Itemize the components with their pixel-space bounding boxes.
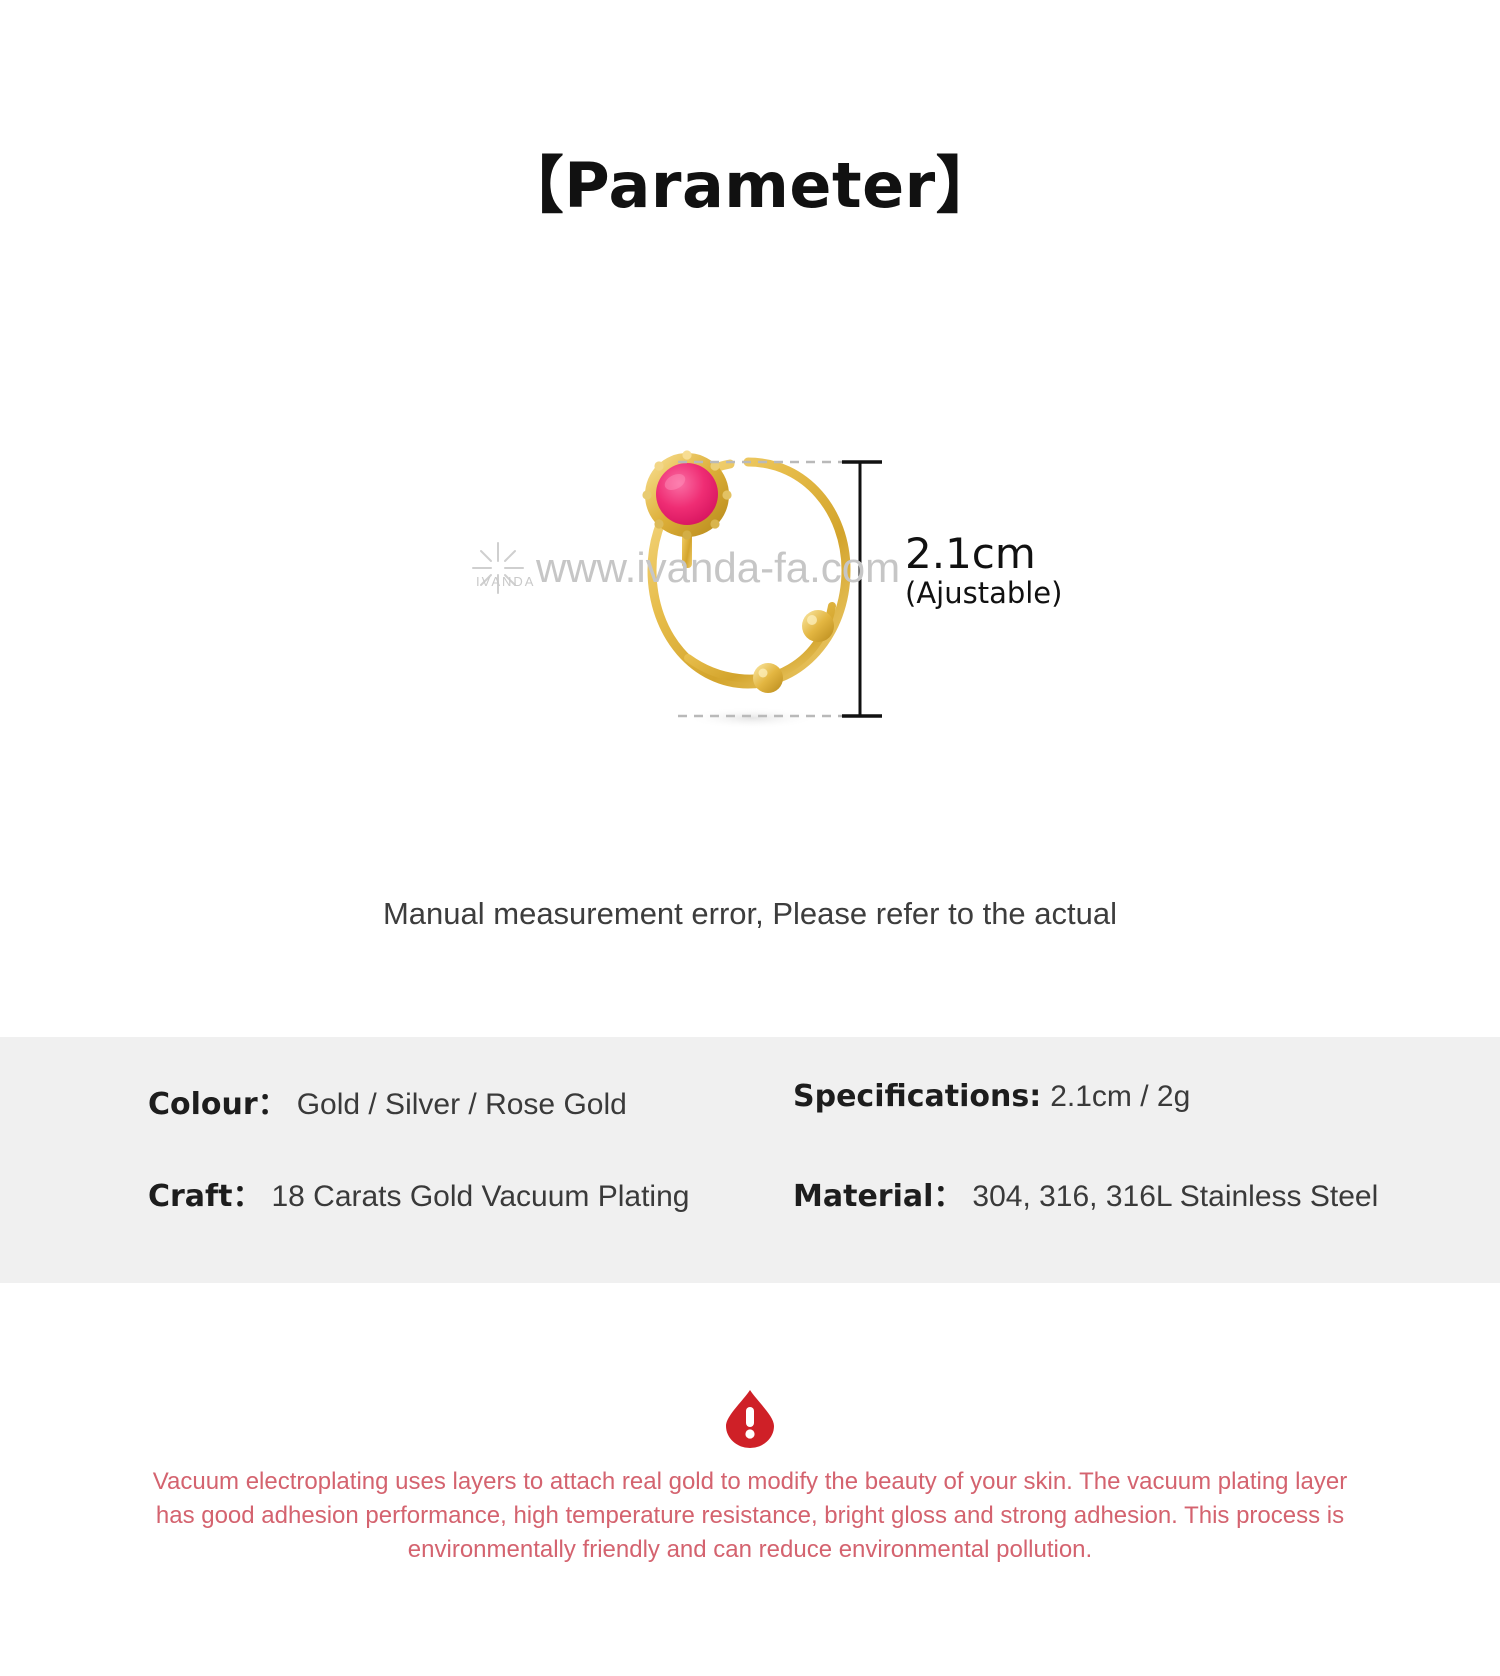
- spec-value-specifications: 2.1cm / 2g: [1050, 1080, 1190, 1114]
- spec-value-craft: 18 Carats Gold Vacuum Plating: [271, 1180, 689, 1214]
- spec-row-craft: Craft： 18 Carats Gold Vacuum Plating: [148, 1171, 793, 1215]
- spec-label-colour: Colour：: [148, 1079, 288, 1123]
- spec-label-craft: Craft：: [148, 1171, 262, 1215]
- warning-icon-bar: [746, 1407, 754, 1427]
- dimension-note: (Ajustable): [905, 577, 1062, 609]
- warning-icon-container: [0, 1388, 1500, 1448]
- spec-value-material: 304, 316, 316L Stainless Steel: [972, 1180, 1378, 1214]
- watermark-brand: IVANDA: [476, 574, 535, 589]
- spec-label-specifications: Specifications:: [793, 1079, 1041, 1114]
- spec-row-colour: Colour： Gold / Silver / Rose Gold: [148, 1079, 793, 1123]
- vacuum-plating-disclaimer: Vacuum electroplating uses layers to att…: [150, 1465, 1350, 1567]
- spec-label-material: Material：: [793, 1171, 963, 1215]
- product-figure: IVANDA www.ivanda-fa.com 2.1cm (Ajustabl…: [0, 430, 1500, 790]
- warning-icon-dot: [745, 1429, 754, 1438]
- dimension-label: 2.1cm (Ajustable): [905, 530, 1062, 610]
- spec-value-colour: Gold / Silver / Rose Gold: [297, 1088, 627, 1122]
- spec-row-specifications: Specifications: 2.1cm / 2g: [793, 1079, 1388, 1123]
- spec-row-material: Material： 304, 316, 316L Stainless Steel: [793, 1171, 1388, 1215]
- page-title: 【Parameter】: [0, 152, 1500, 220]
- dimension-value: 2.1cm: [905, 530, 1062, 577]
- product-parameter-page: 【Parameter】: [0, 0, 1500, 1676]
- sparkle-star-icon: [470, 540, 526, 596]
- page-title-text: 【Parameter】: [0, 152, 1500, 220]
- exclamation-warning-icon: [722, 1388, 778, 1448]
- dimension-guide: [660, 430, 920, 750]
- specifications-grid: Colour： Gold / Silver / Rose Gold Specif…: [148, 1079, 1388, 1215]
- specifications-panel: Colour： Gold / Silver / Rose Gold Specif…: [0, 1037, 1500, 1283]
- measurement-note: Manual measurement error, Please refer t…: [0, 896, 1500, 932]
